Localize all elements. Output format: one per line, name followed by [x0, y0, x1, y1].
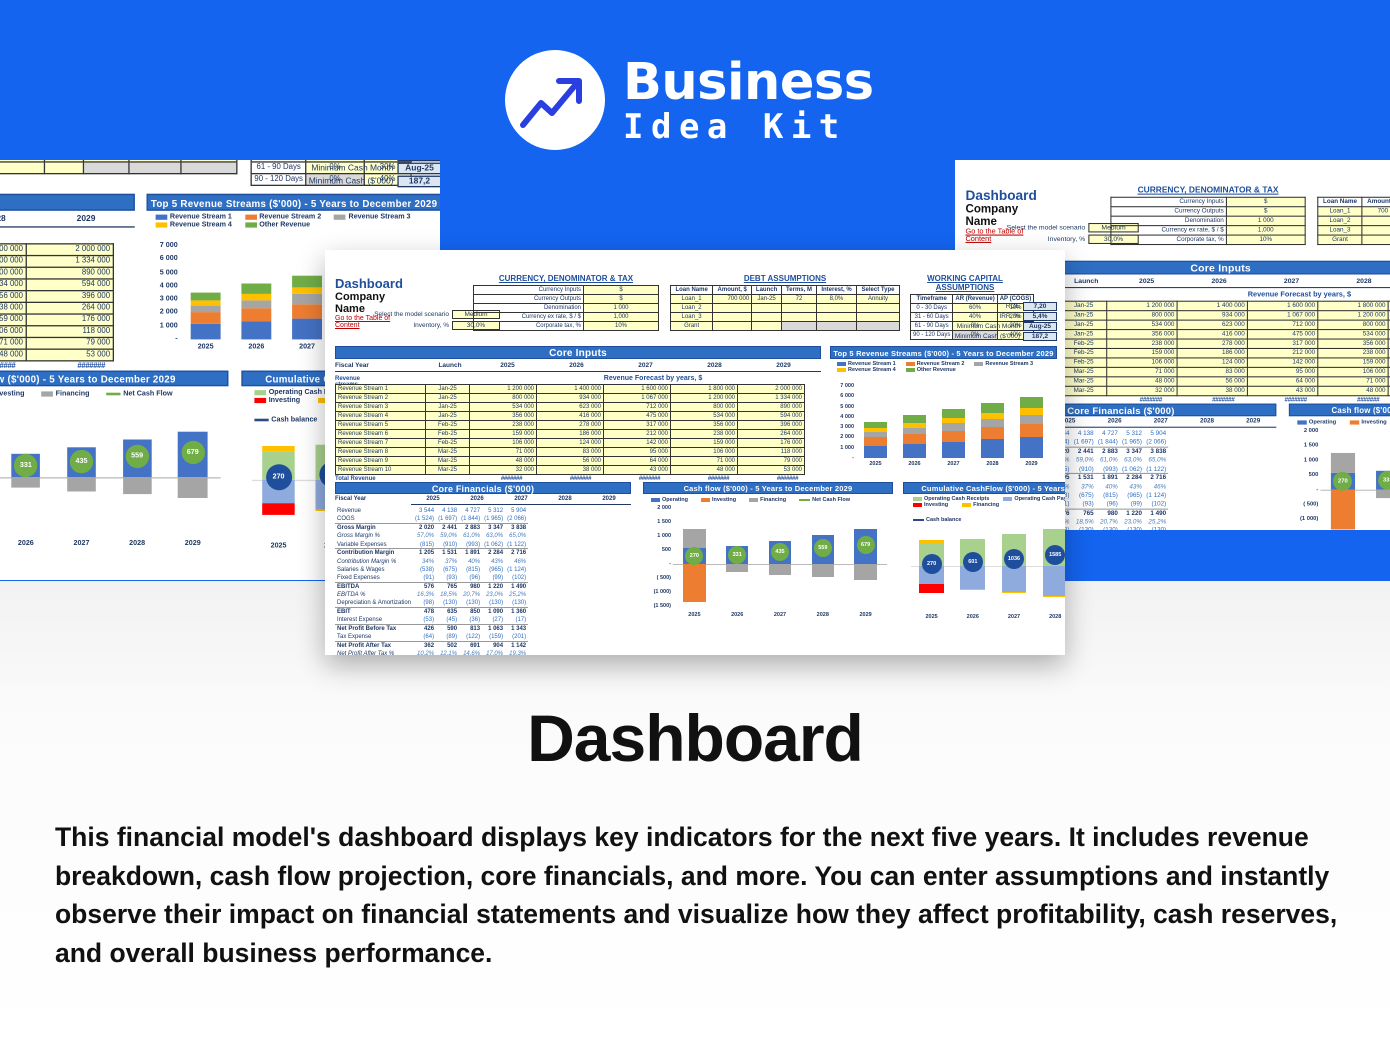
table-row: Revenue 3 5444 1384 7275 3125 904 — [335, 507, 528, 515]
table-header-row: Loan NameAmount, $LaunchTerms, MInterest… — [1318, 197, 1390, 206]
net-cash-flow-bubble: 679 — [857, 536, 875, 554]
stream-value[interactable]: 1 800 000 — [1318, 301, 1388, 310]
stream-value[interactable]: 534 000 — [470, 403, 537, 412]
stream-value[interactable]: 38 000 — [537, 466, 604, 475]
row-value: (2 066) — [1144, 439, 1168, 448]
stream-value[interactable]: 1 600 000 — [604, 385, 671, 394]
row-value: 16,3% — [413, 591, 436, 599]
stream-value[interactable]: 800 000 — [470, 394, 537, 403]
stream-value[interactable]: 142 000 — [604, 439, 671, 448]
stream-value[interactable]: 95 000 — [604, 448, 671, 457]
stream-value[interactable]: 32 000 — [470, 466, 537, 475]
row-label: Currency Outputs — [474, 295, 584, 304]
table-cell[interactable] — [45, 162, 84, 174]
row-value: (1 122) — [1144, 465, 1168, 474]
stream-value[interactable]: 56 000 — [537, 457, 604, 466]
row-value: (910) — [1072, 465, 1096, 474]
row-value: 63,0% — [1120, 456, 1144, 465]
row-value: (96) — [459, 574, 482, 582]
row-value: 59,0% — [1072, 456, 1096, 465]
stream-value[interactable]: 1 800 000 — [0, 244, 26, 256]
row-value: 5 904 — [505, 507, 528, 515]
stream-value[interactable]: 800 000 — [671, 403, 738, 412]
table-cell[interactable] — [1362, 216, 1390, 225]
row-value[interactable]: 10% — [1226, 235, 1305, 244]
stream-value[interactable]: 56 000 — [1177, 377, 1247, 386]
table-cell[interactable] — [752, 322, 782, 331]
stream-launch[interactable]: Jan-25 — [1061, 311, 1107, 320]
stream-value[interactable]: 238 000 — [1318, 348, 1388, 357]
stream-value[interactable]: 159 000 — [1318, 358, 1388, 367]
net-cash-flow-bubble: 331 — [728, 546, 746, 564]
stream-value[interactable]: 186 000 — [1177, 348, 1247, 357]
table-row: Revenue Stream 6 Feb-25 159 000186 00021… — [0, 302, 113, 314]
stream-value[interactable]: 317 000 — [604, 421, 671, 430]
table-cell[interactable] — [857, 313, 900, 322]
table-cell[interactable]: Loan_2 — [671, 304, 713, 313]
working-capital-title: WORKING CAPITAL ASSUMPTIONS — [910, 274, 1020, 292]
row-value[interactable]: 1,000 — [584, 313, 659, 322]
stream-value[interactable]: 1 334 000 — [26, 256, 113, 268]
table-cell[interactable] — [817, 322, 857, 331]
stream-name[interactable]: Revenue Stream 2 — [336, 394, 426, 403]
stream-launch[interactable]: Feb-25 — [426, 439, 470, 448]
bar-segment — [1020, 397, 1043, 408]
stream-value[interactable]: 800 000 — [0, 267, 26, 279]
core-financials-title: Core Financials ($'000) — [335, 482, 631, 494]
debt-table: Loan NameAmount, $LaunchTerms, MInterest… — [670, 285, 900, 331]
table-cell[interactable]: Grant — [1318, 235, 1362, 244]
row-value[interactable]: 10% — [584, 322, 659, 331]
stream-value[interactable]: 71 000 — [1107, 367, 1177, 376]
stream-value[interactable]: 142 000 — [1247, 358, 1317, 367]
legend-item: Operating — [1297, 419, 1336, 425]
stream-value[interactable]: 124 000 — [537, 439, 604, 448]
stream-value[interactable]: 71 000 — [470, 448, 537, 457]
row-value: 904 — [482, 641, 505, 649]
row-value: (910) — [436, 541, 459, 549]
table-row: Net Profit Before Tax 4265908131 0631 34… — [335, 624, 528, 632]
row-value: 20,7% — [459, 591, 482, 599]
column-header: Loan Name — [671, 286, 713, 295]
stream-value[interactable]: 356 000 — [0, 291, 26, 303]
stream-value[interactable]: 176 000 — [26, 314, 113, 326]
investing-bar — [683, 564, 705, 602]
bar-segment — [292, 294, 321, 304]
stream-launch[interactable]: Mar-25 — [426, 448, 470, 457]
x-tick: 2029 — [1018, 461, 1046, 467]
row-label: EBIT — [335, 608, 413, 616]
stream-value[interactable]: 534 000 — [0, 279, 26, 291]
bar-segment — [981, 419, 1004, 427]
stream-value[interactable]: 159 000 — [1107, 348, 1177, 357]
net-cash-flow-bubble: 435 — [70, 450, 93, 473]
stream-launch[interactable]: Feb-25 — [426, 430, 470, 439]
row-value: 43% — [482, 557, 505, 565]
cash-balance-bubble: 1585 — [1045, 545, 1065, 565]
stream-value[interactable]: 71 000 — [0, 337, 26, 349]
stream-value[interactable]: 124 000 — [1177, 358, 1247, 367]
stream-value[interactable]: 416 000 — [1177, 330, 1247, 339]
row-value: 765 — [436, 583, 459, 591]
row-label: Net Profit After Tax — [335, 641, 413, 649]
stream-value[interactable]: 1 800 000 — [671, 385, 738, 394]
row-value: 362 — [413, 641, 436, 649]
table-cell[interactable] — [782, 322, 817, 331]
row-value: (99) — [482, 574, 505, 582]
stream-value[interactable]: 712 000 — [604, 403, 671, 412]
stream-launch[interactable]: Feb-25 — [426, 421, 470, 430]
stream-value[interactable]: 71 000 — [671, 457, 738, 466]
row-value: 635 — [436, 608, 459, 616]
stream-value[interactable]: 212 000 — [1247, 348, 1317, 357]
stream-value[interactable]: 396 000 — [738, 421, 805, 430]
stream-name[interactable]: Revenue Stream 6 — [336, 430, 426, 439]
row-value[interactable]: 1 000 — [1226, 216, 1305, 225]
row-value: (1 965) — [1120, 439, 1144, 448]
stream-value[interactable]: 475 000 — [604, 412, 671, 421]
table-cell[interactable] — [181, 162, 237, 174]
brand-logo: Business Idea Kit — [505, 50, 874, 150]
dashboard-title: Dashboard — [966, 187, 1037, 203]
stream-name[interactable]: Revenue Stream 9 — [336, 457, 426, 466]
cashflow-legend: OperatingInvestingFinancingNet Cash Flow — [1297, 419, 1390, 425]
stream-value[interactable]: 106 000 — [1318, 367, 1388, 376]
stream-value[interactable]: 106 000 — [671, 448, 738, 457]
row-value: 57,0% — [413, 532, 436, 540]
stream-value[interactable]: 53 000 — [26, 349, 113, 361]
stream-value[interactable]: 317 000 — [1247, 339, 1317, 348]
stream-value[interactable]: 83 000 — [537, 448, 604, 457]
financing-bar — [960, 589, 985, 590]
y-tick: ( 500) — [643, 575, 671, 581]
table-row: Revenue Stream 8 Mar-25 71 00083 00095 0… — [0, 326, 113, 338]
stream-value[interactable]: 1 200 000 — [0, 256, 26, 268]
table-row: Revenue Stream 2 Jan-25 800 000934 0001 … — [336, 394, 805, 403]
stream-value[interactable]: 278 000 — [1177, 339, 1247, 348]
stream-value[interactable]: 1 600 000 — [1247, 301, 1317, 310]
row-value[interactable]: 1 000 — [584, 304, 659, 313]
row-value: 61,0% — [459, 532, 482, 540]
stream-value[interactable]: 264 000 — [26, 302, 113, 314]
growth-arrow-chart-icon — [505, 50, 605, 150]
stream-value[interactable]: 1 400 000 — [537, 385, 604, 394]
stream-value[interactable]: 48 000 — [1107, 377, 1177, 386]
stream-value[interactable]: 48 000 — [470, 457, 537, 466]
stream-launch[interactable]: Jan-25 — [426, 385, 470, 394]
stream-value[interactable]: 1 200 000 — [671, 394, 738, 403]
table-row: Depreciation & Amortization (98)(130)(13… — [335, 599, 528, 607]
table-cell[interactable]: 700 000 — [1362, 207, 1390, 216]
table-cell[interactable]: Loan_1 — [1318, 207, 1362, 216]
column-header: Interest, % — [817, 286, 857, 295]
stream-value[interactable]: 534 000 — [1107, 320, 1177, 329]
stream-launch[interactable]: Jan-25 — [1061, 330, 1107, 339]
row-value: (130) — [459, 599, 482, 607]
table-cell[interactable]: 700 000 — [713, 295, 752, 304]
x-tick: 2028 — [119, 540, 155, 548]
stream-value[interactable]: 356 000 — [1107, 330, 1177, 339]
stream-value[interactable]: 238 000 — [671, 430, 738, 439]
stream-launch[interactable]: Jan-25 — [1061, 301, 1107, 310]
row-value: 63,0% — [482, 532, 505, 540]
table-cell[interactable] — [752, 313, 782, 322]
stream-value[interactable]: 1 400 000 — [1177, 301, 1247, 310]
legend-item: Net Cash Flow — [799, 497, 850, 503]
row-value: 34% — [413, 557, 436, 565]
row-label: Corporate tax, % — [1111, 235, 1227, 244]
stream-value[interactable]: 356 000 — [470, 412, 537, 421]
stream-value[interactable]: 79 000 — [738, 457, 805, 466]
stream-value[interactable]: 934 000 — [1177, 311, 1247, 320]
stream-name[interactable]: Revenue Stream 5 — [336, 421, 426, 430]
stream-value[interactable]: 356 000 — [1318, 339, 1388, 348]
stream-name[interactable]: Revenue Stream 8 — [336, 448, 426, 457]
table-row: Gross Margin 2 0202 4412 8833 3473 838 — [335, 524, 528, 532]
stream-value[interactable]: 1 200 000 — [470, 385, 537, 394]
stream-launch[interactable]: Jan-25 — [426, 403, 470, 412]
table-cell[interactable]: Annuity — [857, 295, 900, 304]
table-cell[interactable] — [129, 162, 181, 174]
row-value: (130) — [1096, 527, 1120, 530]
bar-segment — [292, 276, 321, 288]
stream-value[interactable]: 238 000 — [1107, 339, 1177, 348]
stream-value[interactable]: 43 000 — [604, 466, 671, 475]
stream-value[interactable]: 416 000 — [537, 412, 604, 421]
stream-value[interactable]: 890 000 — [738, 403, 805, 412]
stream-value[interactable]: 48 000 — [671, 466, 738, 475]
table-cell[interactable] — [752, 304, 782, 313]
stream-value[interactable]: 159 000 — [671, 439, 738, 448]
currency-section-title: CURRENCY, DENOMINATOR & TAX — [473, 274, 659, 283]
stream-launch[interactable]: Mar-25 — [1061, 367, 1107, 376]
row-value: 2 883 — [1096, 447, 1120, 456]
stream-value[interactable]: 2 000 000 — [26, 244, 113, 256]
stream-launch[interactable]: Mar-25 — [426, 466, 470, 475]
row-value: (130) — [1120, 527, 1144, 530]
total-revenue-value: ####### — [46, 363, 136, 371]
stream-value[interactable]: 53 000 — [738, 466, 805, 475]
stream-name[interactable]: Revenue Stream 10 — [336, 466, 426, 475]
stream-value[interactable]: 278 000 — [537, 421, 604, 430]
x-tick: 2029 — [175, 540, 211, 548]
table-cell[interactable] — [713, 313, 752, 322]
table-cell[interactable] — [0, 162, 45, 174]
stream-launch[interactable]: Mar-25 — [426, 457, 470, 466]
row-value: (993) — [1096, 465, 1120, 474]
stream-value[interactable]: 800 000 — [1107, 311, 1177, 320]
stream-launch[interactable]: Feb-25 — [1061, 358, 1107, 367]
stream-value[interactable]: 934 000 — [537, 394, 604, 403]
stream-launch[interactable]: Jan-25 — [426, 412, 470, 421]
stream-value[interactable]: 83 000 — [1177, 367, 1247, 376]
row-value: (1 844) — [459, 515, 482, 523]
table-row: Gross Margin % 57,0%59,0%61,0%63,0%65,0% — [335, 532, 528, 540]
table-cell[interactable] — [782, 313, 817, 322]
stream-value[interactable]: 118 000 — [26, 326, 113, 338]
stream-name[interactable]: Revenue Stream 3 — [336, 403, 426, 412]
stream-launch[interactable]: Feb-25 — [1061, 339, 1107, 348]
stream-value[interactable]: 38 000 — [1177, 386, 1247, 395]
table-row: Fixed Expenses (91)(93)(96)(99)(102) — [335, 574, 528, 582]
stream-value[interactable]: 32 000 — [1107, 386, 1177, 395]
scenario-label: Select the model scenario — [374, 311, 449, 318]
kpi-value: 7,20 — [1023, 302, 1057, 311]
x-tick: 2025 — [918, 614, 946, 620]
table-cell[interactable] — [817, 313, 857, 322]
row-value[interactable]: 1,000 — [1226, 226, 1305, 235]
table-cell[interactable]: Jan-25 — [752, 295, 782, 304]
row-value: 980 — [459, 583, 482, 591]
stream-value[interactable]: 64 000 — [1247, 377, 1317, 386]
bar-segment — [942, 423, 965, 430]
table-cell[interactable] — [713, 304, 752, 313]
financing-bar — [854, 564, 876, 580]
stream-value[interactable]: 106 000 — [1107, 358, 1177, 367]
table-cell[interactable]: Loan_3 — [671, 313, 713, 322]
row-value: 12,1% — [436, 650, 459, 655]
kpi-label: Minimum Cash ($'000) — [955, 333, 1020, 340]
row-label: Fixed Expenses — [335, 574, 413, 582]
kpi-label: IRR, % — [999, 313, 1020, 320]
table-cell[interactable]: Loan_3 — [1318, 226, 1362, 235]
year-header: 2028 — [0, 215, 41, 224]
row-value: 765 — [1072, 509, 1096, 518]
stream-launch[interactable]: Mar-25 — [1061, 386, 1107, 395]
cash-balance-bubble: 270 — [922, 554, 942, 574]
y-tick: 1 500 — [643, 519, 671, 525]
stream-value[interactable]: 106 000 — [470, 439, 537, 448]
stream-value[interactable]: 43 000 — [1247, 386, 1317, 395]
table-cell[interactable]: Grant — [671, 322, 713, 331]
table-cell[interactable]: Loan_1 — [671, 295, 713, 304]
stream-value[interactable]: 1 334 000 — [738, 394, 805, 403]
row-value: (130) — [505, 599, 528, 607]
table-cell[interactable] — [1362, 226, 1390, 235]
stream-value[interactable]: 475 000 — [1247, 330, 1317, 339]
table-cell[interactable] — [83, 162, 129, 174]
stream-value[interactable]: 48 000 — [0, 349, 26, 361]
y-tick: 6 000 — [147, 255, 178, 263]
stream-value[interactable]: 106 000 — [0, 326, 26, 338]
stream-value[interactable]: 238 000 — [0, 302, 26, 314]
table-cell[interactable] — [782, 304, 817, 313]
row-value: (130) — [482, 599, 505, 607]
stream-name[interactable]: Revenue Stream 7 — [336, 439, 426, 448]
stream-value[interactable]: 534 000 — [671, 412, 738, 421]
stream-value[interactable]: 623 000 — [1177, 320, 1247, 329]
table-cell[interactable] — [817, 304, 857, 313]
stream-value[interactable]: 1 067 000 — [604, 394, 671, 403]
x-tick: 2026 — [8, 540, 44, 548]
legend-item: Investing — [701, 497, 736, 503]
stream-value[interactable]: 1 200 000 — [1107, 301, 1177, 310]
y-tick: 1 000 — [643, 533, 671, 539]
stream-value[interactable]: 2 000 000 — [738, 385, 805, 394]
stream-value[interactable]: 594 000 — [26, 279, 113, 291]
stream-value[interactable]: 79 000 — [26, 337, 113, 349]
stream-value[interactable]: 71 000 — [1318, 377, 1388, 386]
stream-launch[interactable]: Jan-25 — [426, 394, 470, 403]
stream-value[interactable]: 212 000 — [604, 430, 671, 439]
stream-value[interactable]: 264 000 — [738, 430, 805, 439]
cashflow-chart-title: Cash flow ($'000) - 5 Years to December … — [1289, 404, 1390, 417]
stream-value[interactable]: 534 000 — [1318, 330, 1388, 339]
row-value: 502 — [436, 641, 459, 649]
row-value[interactable]: $ — [584, 295, 659, 304]
table-cell[interactable]: 72 — [782, 295, 817, 304]
stream-value[interactable]: 1 067 000 — [1247, 311, 1317, 320]
table-row: Revenue Stream 8 Mar-25 71 00083 00095 0… — [336, 448, 805, 457]
kpi-label: Minimum Cash Month — [311, 164, 393, 173]
stream-value[interactable]: 186 000 — [537, 430, 604, 439]
stream-value[interactable]: 1 200 000 — [1318, 311, 1388, 320]
row-value: 23,0% — [482, 591, 505, 599]
stream-value[interactable]: 712 000 — [1247, 320, 1317, 329]
stream-launch[interactable]: Jan-25 — [1061, 320, 1107, 329]
stream-value[interactable]: 594 000 — [738, 412, 805, 421]
stream-launch[interactable]: Mar-25 — [1061, 377, 1107, 386]
row-value[interactable]: $ — [1226, 207, 1305, 216]
y-tick: 7 000 — [830, 383, 854, 389]
row-value: 18,5% — [1072, 518, 1096, 527]
year-header: 2028 — [680, 362, 749, 369]
table-cell[interactable] — [857, 304, 900, 313]
table-cell[interactable] — [1362, 235, 1390, 244]
row-value: 61,0% — [1096, 456, 1120, 465]
stream-value[interactable]: 238 000 — [470, 421, 537, 430]
stream-value[interactable]: 356 000 — [671, 421, 738, 430]
stream-value[interactable]: 623 000 — [537, 403, 604, 412]
stream-value[interactable]: 95 000 — [1247, 367, 1317, 376]
stream-value[interactable]: 48 000 — [1318, 386, 1388, 395]
row-label: Currency Outputs — [1111, 207, 1227, 216]
cashflow-legend: OperatingInvestingFinancingNet Cash Flow — [0, 390, 226, 398]
stream-name[interactable]: Revenue Stream 4 — [336, 412, 426, 421]
stream-value[interactable]: 176 000 — [738, 439, 805, 448]
row-value: 1 891 — [1096, 474, 1120, 483]
row-value[interactable]: $ — [584, 286, 659, 295]
x-tick: 2025 — [680, 612, 708, 618]
launch-label: Launch — [427, 362, 473, 369]
table-cell[interactable] — [857, 322, 900, 331]
stream-value[interactable]: 64 000 — [604, 457, 671, 466]
row-value: (93) — [436, 574, 459, 582]
financing-bar — [11, 477, 40, 488]
row-value: 2 716 — [1144, 474, 1168, 483]
stream-value[interactable]: 396 000 — [26, 291, 113, 303]
stream-launch[interactable]: Feb-25 — [1061, 348, 1107, 357]
row-value: 4 727 — [1096, 430, 1120, 439]
stream-name[interactable]: Revenue Stream 1 — [336, 385, 426, 394]
row-value[interactable]: $ — [1226, 197, 1305, 206]
table-cell[interactable]: Loan_2 — [1318, 216, 1362, 225]
stream-value[interactable]: 159 000 — [470, 430, 537, 439]
table-cell[interactable]: 8,0% — [817, 295, 857, 304]
row-value: 20,7% — [1096, 518, 1120, 527]
row-value: 426 — [413, 624, 436, 632]
table-cell[interactable] — [713, 322, 752, 331]
bar-segment — [1020, 408, 1043, 414]
year-header: 2025 — [411, 496, 455, 502]
bar-segment — [864, 446, 887, 458]
bar-segment — [903, 423, 926, 427]
row-value: 1 531 — [1072, 474, 1096, 483]
stream-value[interactable]: 159 000 — [0, 314, 26, 326]
stream-value[interactable]: 800 000 — [1318, 320, 1388, 329]
stream-value[interactable]: 890 000 — [26, 267, 113, 279]
stream-value[interactable]: 118 000 — [738, 448, 805, 457]
